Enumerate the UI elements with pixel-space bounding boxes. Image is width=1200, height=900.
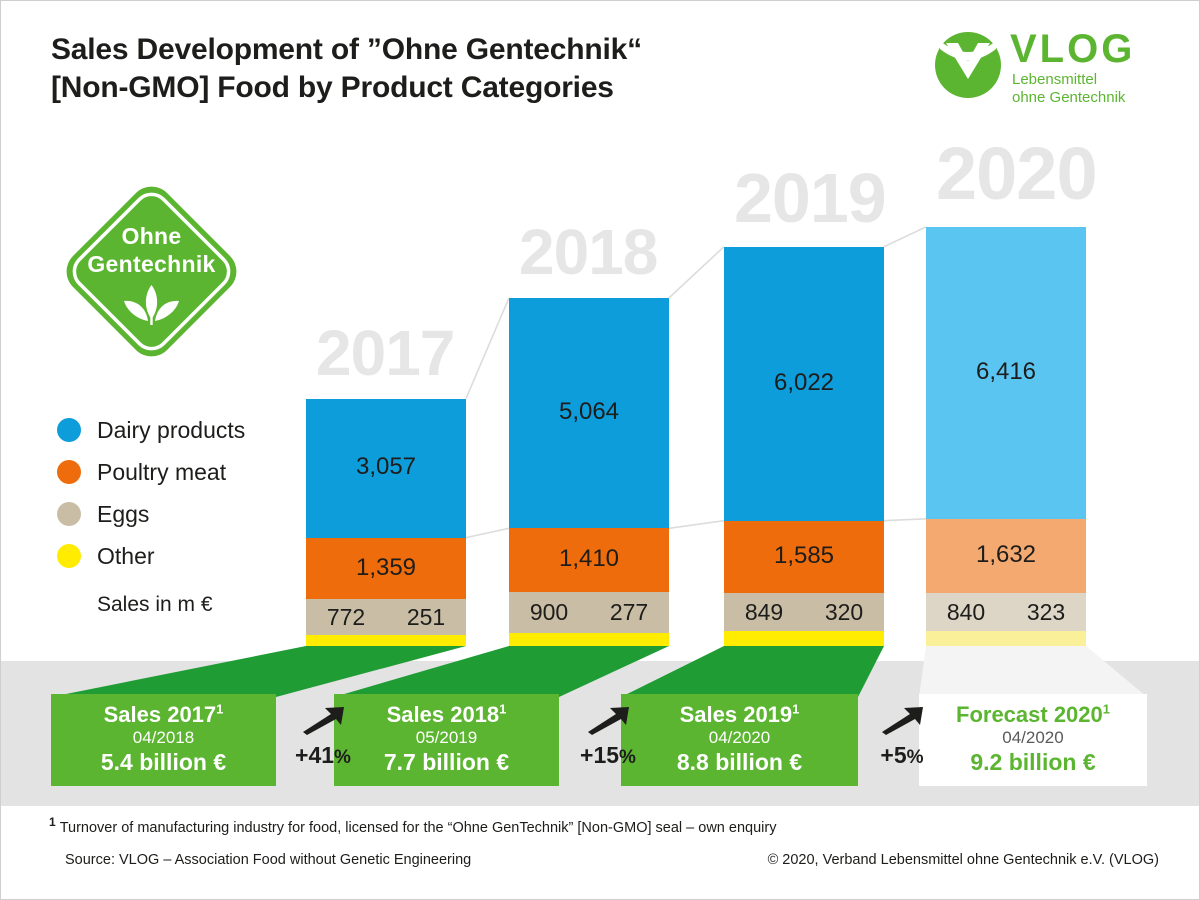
value-label-row-2020: 840323 bbox=[926, 593, 1086, 631]
bar-top-connector-0 bbox=[466, 298, 509, 399]
bar-segment-other-2019[interactable] bbox=[724, 631, 884, 646]
summary-box-footnote-marker: 1 bbox=[792, 702, 799, 717]
value-label-row-2019: 849320 bbox=[724, 593, 884, 632]
bar-segment-other-2017[interactable] bbox=[306, 635, 466, 646]
summary-box-value: 5.4 billion € bbox=[51, 749, 276, 777]
value-label-eggs-2017: 772 bbox=[327, 604, 365, 631]
poultry-cut-connector-1 bbox=[669, 521, 724, 529]
bar-2018[interactable]: 5,0641,410900277 bbox=[509, 298, 669, 646]
arrow-up-right-icon bbox=[880, 706, 924, 736]
footnote-marker: 1 bbox=[49, 815, 56, 829]
growth-value: +15% bbox=[569, 742, 647, 769]
value-label-poultry-2017: 1,359 bbox=[306, 554, 466, 582]
summary-box-title: Sales 20171 bbox=[51, 702, 276, 727]
poultry-cut-connector-2 bbox=[884, 519, 926, 521]
copyright-text: © 2020, Verband Lebensmittel ohne Gentec… bbox=[768, 852, 1159, 868]
value-label-eggs-2018: 900 bbox=[530, 599, 568, 626]
year-label-2018: 2018 bbox=[519, 220, 657, 284]
growth-value: +41% bbox=[284, 742, 362, 769]
summary-box-date: 05/2019 bbox=[334, 727, 559, 749]
growth-indicator-1: +15% bbox=[569, 706, 647, 769]
bar-2017[interactable]: 3,0571,359772251 bbox=[306, 399, 466, 646]
summary-box-2018[interactable]: Sales 2018105/20197.7 billion € bbox=[334, 694, 559, 786]
summary-box-forecast-2020[interactable]: Forecast 2020104/20209.2 billion € bbox=[919, 694, 1147, 786]
value-label-poultry-2019: 1,585 bbox=[724, 542, 884, 570]
bar-top-connector-2 bbox=[884, 227, 926, 247]
arrow-up-right-icon bbox=[586, 706, 630, 736]
growth-unit: % bbox=[334, 747, 351, 768]
year-label-2019: 2019 bbox=[734, 163, 886, 233]
bar-top-connector-1 bbox=[669, 247, 724, 298]
growth-value: +5% bbox=[863, 742, 941, 769]
value-label-dairy-2017: 3,057 bbox=[306, 453, 466, 481]
summary-box-date: 04/2020 bbox=[919, 727, 1147, 749]
year-label-2017: 2017 bbox=[316, 321, 454, 385]
summary-box-2017[interactable]: Sales 2017104/20185.4 billion € bbox=[51, 694, 276, 786]
value-label-dairy-2018: 5,064 bbox=[509, 398, 669, 426]
value-label-poultry-2018: 1,410 bbox=[509, 545, 669, 573]
summary-box-footnote-marker: 1 bbox=[499, 702, 506, 717]
value-label-dairy-2020: 6,416 bbox=[926, 358, 1086, 386]
value-label-poultry-2020: 1,632 bbox=[926, 541, 1086, 569]
infographic-canvas: Sales Development of ”Ohne Gentechnik“ [… bbox=[0, 0, 1200, 900]
summary-box-value: 7.7 billion € bbox=[334, 749, 559, 777]
value-label-dairy-2019: 6,022 bbox=[724, 369, 884, 397]
source-text: Source: VLOG – Association Food without … bbox=[65, 852, 471, 868]
summary-box-value: 8.8 billion € bbox=[621, 749, 858, 777]
bar-segment-other-2018[interactable] bbox=[509, 633, 669, 646]
summary-box-2019[interactable]: Sales 2019104/20208.8 billion € bbox=[621, 694, 858, 786]
growth-unit: % bbox=[619, 747, 636, 768]
value-label-row-2017: 772251 bbox=[306, 599, 466, 634]
value-label-other-2019: 320 bbox=[825, 599, 863, 626]
growth-indicator-0: +41% bbox=[284, 706, 362, 769]
summary-box-title: Sales 20191 bbox=[621, 702, 858, 727]
value-label-other-2017: 251 bbox=[407, 604, 445, 631]
poultry-cut-connector-0 bbox=[466, 528, 509, 537]
summary-box-value: 9.2 billion € bbox=[919, 749, 1147, 777]
value-label-eggs-2020: 840 bbox=[947, 599, 985, 626]
growth-unit: % bbox=[907, 747, 924, 768]
summary-box-footnote-marker: 1 bbox=[216, 702, 223, 717]
value-label-eggs-2019: 849 bbox=[745, 599, 783, 626]
footnote: 1Turnover of manufacturing industry for … bbox=[49, 815, 776, 836]
value-label-other-2018: 277 bbox=[610, 599, 648, 626]
value-label-row-2018: 900277 bbox=[509, 592, 669, 633]
bar-2019[interactable]: 6,0221,585849320 bbox=[724, 247, 884, 646]
summary-box-footnote-marker: 1 bbox=[1103, 702, 1110, 717]
footnote-text: Turnover of manufacturing industry for f… bbox=[60, 820, 777, 836]
summary-box-date: 04/2020 bbox=[621, 727, 858, 749]
value-label-other-2020: 323 bbox=[1027, 599, 1065, 626]
summary-box-title: Forecast 20201 bbox=[919, 702, 1147, 727]
growth-indicator-2: +5% bbox=[863, 706, 941, 769]
bar-segment-other-2020[interactable] bbox=[926, 631, 1086, 646]
summary-box-date: 04/2018 bbox=[51, 727, 276, 749]
year-label-2020: 2020 bbox=[936, 137, 1097, 211]
bar-2020[interactable]: 6,4161,632840323 bbox=[926, 227, 1086, 646]
summary-box-title: Sales 20181 bbox=[334, 702, 559, 727]
arrow-up-right-icon bbox=[301, 706, 345, 736]
